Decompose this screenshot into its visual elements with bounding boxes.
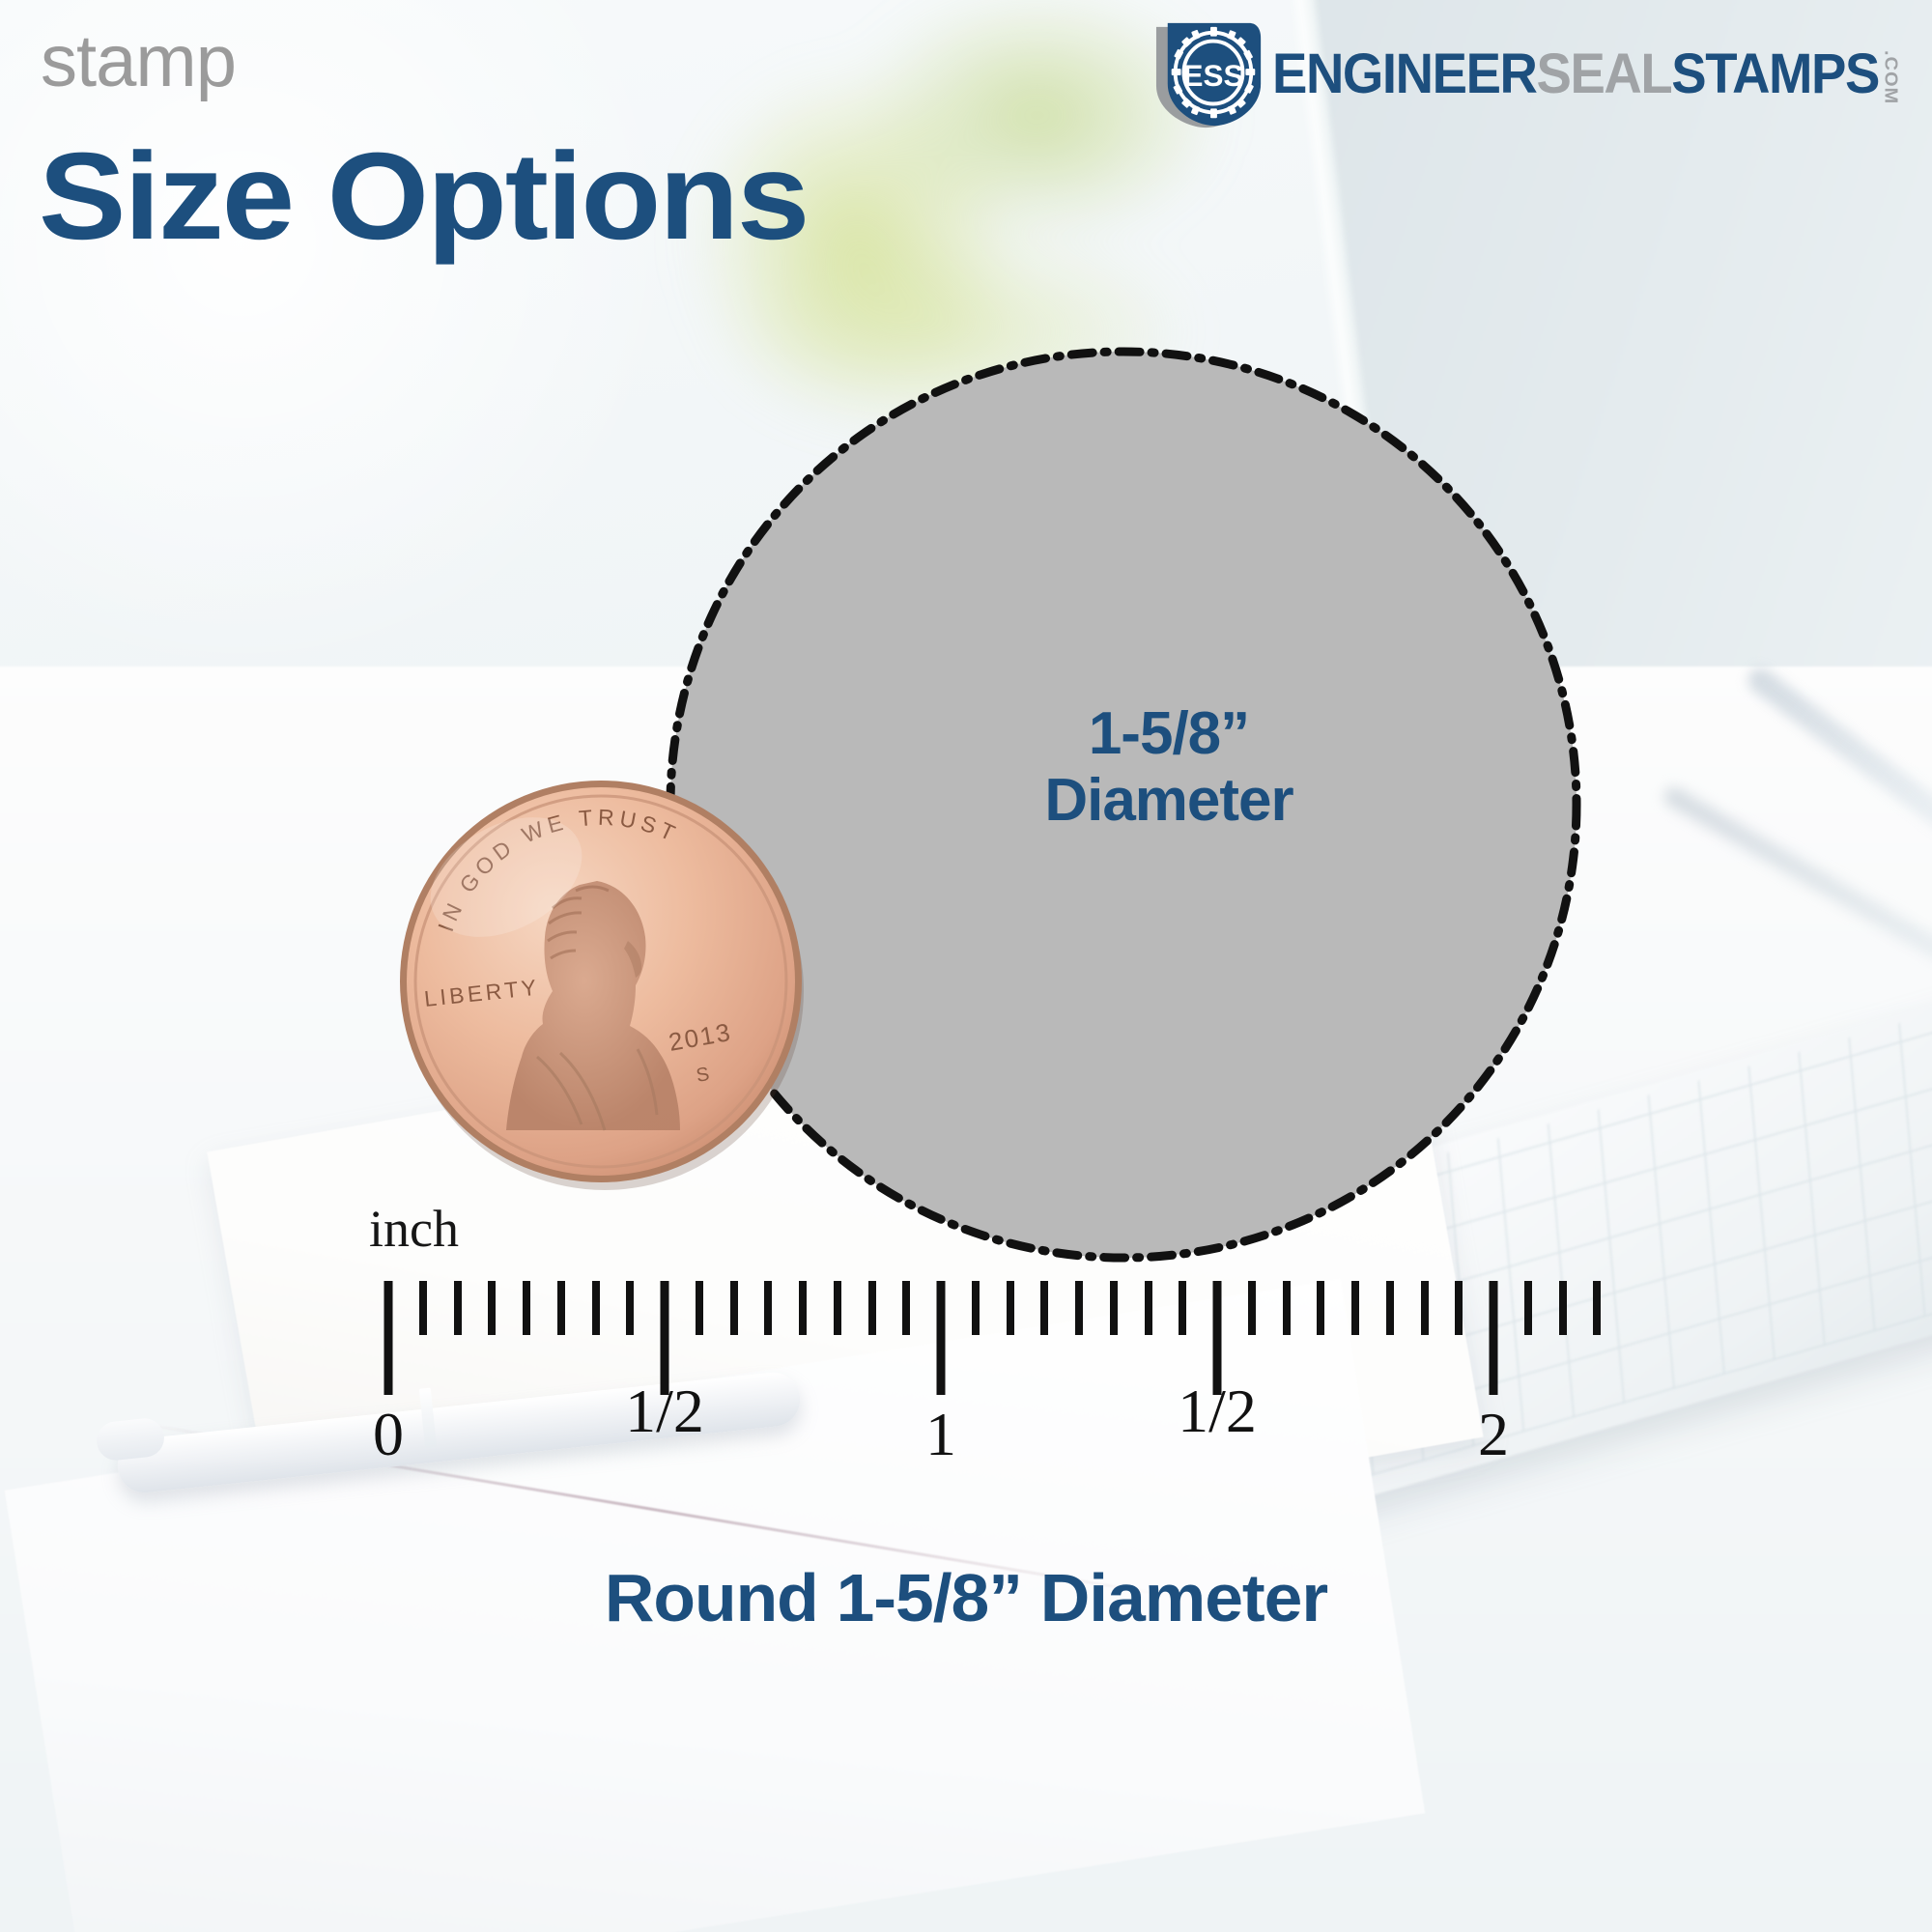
engineer-seal-stamps-logo[interactable]: ESS ENGINEERSEALSTAMPS.COM bbox=[1154, 17, 1932, 131]
svg-text:ESS: ESS bbox=[1182, 59, 1243, 93]
ess-shield-gear-icon: ESS bbox=[1154, 17, 1268, 131]
logo-word-seal: SEAL bbox=[1536, 46, 1671, 102]
logo-tld: .COM bbox=[1882, 50, 1900, 104]
ruler-tick-label-half-2: 1/2 bbox=[1178, 1376, 1257, 1447]
ruler-tick-label-1: 1 bbox=[925, 1399, 956, 1470]
ruler-unit-label: inch bbox=[369, 1199, 459, 1259]
bottom-caption: Round 1-5/8” Diameter bbox=[0, 1559, 1932, 1636]
page-title: Size Options bbox=[39, 135, 808, 259]
ruler-tick-label-2: 2 bbox=[1478, 1399, 1509, 1470]
ruler-tick-label-half-1: 1/2 bbox=[625, 1376, 704, 1447]
size-value: 1-5/8” bbox=[1089, 700, 1249, 767]
logo-wordmark: ENGINEERSEALSTAMPS.COM bbox=[1272, 44, 1900, 104]
size-unit-word: Diameter bbox=[966, 767, 1372, 834]
penny-coin: IN GOD WE TRUST LIBERTY 2013 S bbox=[390, 771, 811, 1192]
logo-word-stamps: STAMPS bbox=[1671, 46, 1879, 102]
size-options-graphic: stamp Size Options bbox=[0, 0, 1932, 1932]
ruler-tick-label-0: 0 bbox=[373, 1399, 404, 1470]
size-circle-label: 1-5/8” Diameter bbox=[966, 700, 1372, 835]
logo-word-engineer: ENGINEER bbox=[1272, 46, 1536, 102]
kicker-stamp: stamp bbox=[41, 25, 236, 99]
